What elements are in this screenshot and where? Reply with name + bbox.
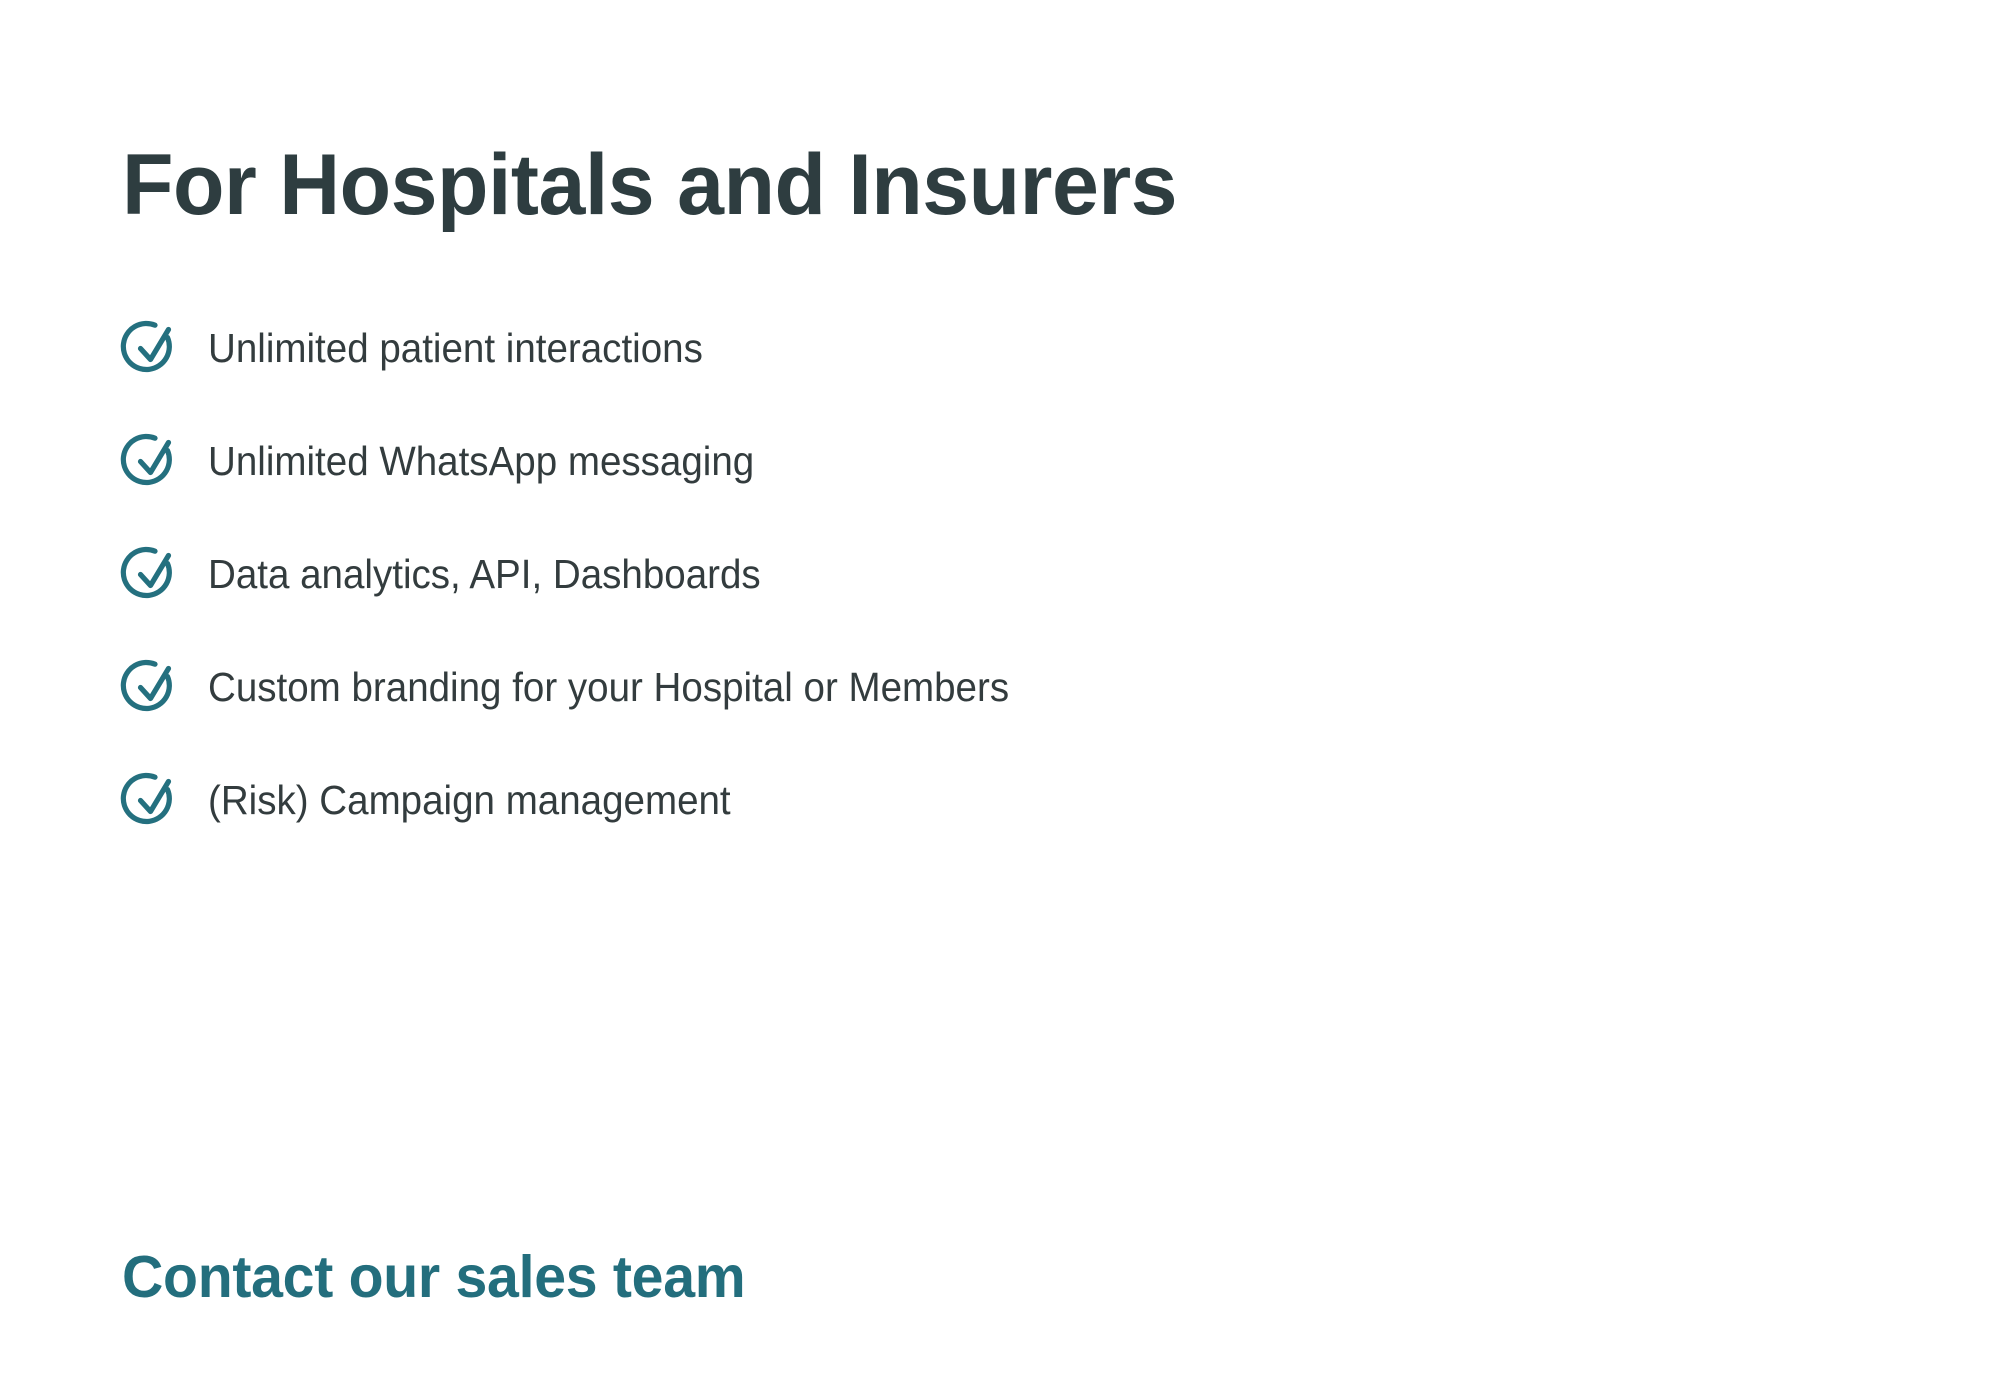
contact-sales-link[interactable]: Contact our sales team (122, 1247, 745, 1309)
list-item: (Risk) Campaign management (122, 770, 1060, 830)
list-item: Custom branding for your Hospital or Mem… (122, 657, 1060, 717)
list-item: Unlimited patient interactions (122, 318, 1060, 378)
circle-check-icon (122, 430, 184, 492)
circle-check-icon (122, 317, 184, 379)
circle-check-icon (122, 543, 184, 605)
page-title: For Hospitals and Insurers (122, 140, 1177, 230)
feature-label: Unlimited WhatsApp messaging (208, 441, 754, 482)
circle-check-icon (122, 656, 184, 718)
circle-check-icon (122, 769, 184, 831)
feature-label: Data analytics, API, Dashboards (208, 554, 761, 595)
pricing-plan-panel: For Hospitals and Insurers Unlimited pat… (0, 0, 2000, 1400)
feature-label: (Risk) Campaign management (208, 780, 731, 821)
feature-label: Unlimited patient interactions (208, 328, 703, 369)
feature-label: Custom branding for your Hospital or Mem… (208, 667, 1009, 708)
list-item: Unlimited WhatsApp messaging (122, 431, 1060, 491)
list-item: Data analytics, API, Dashboards (122, 544, 1060, 604)
feature-list: Unlimited patient interactions Unlimited… (122, 318, 1060, 830)
